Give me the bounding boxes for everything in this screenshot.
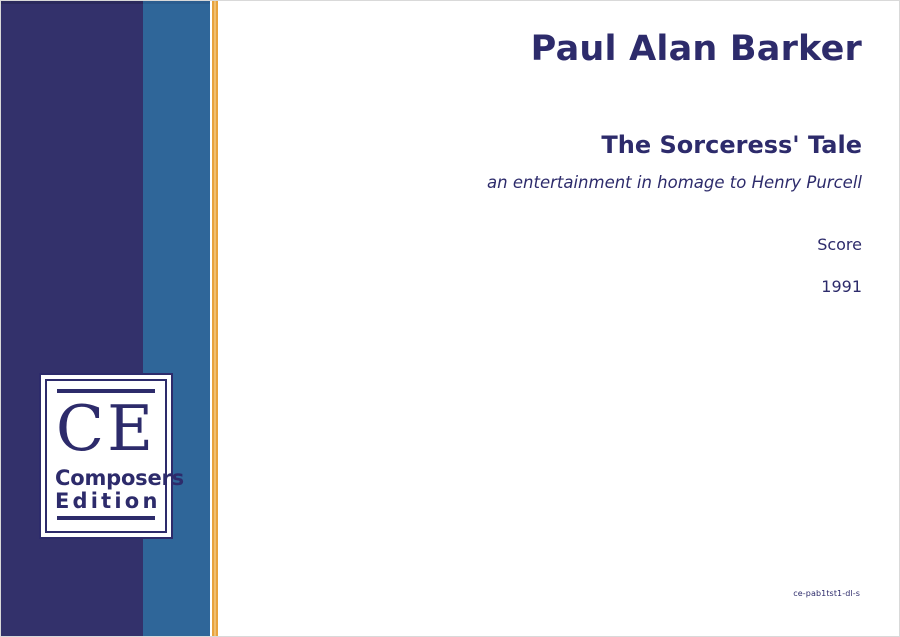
orange-accent-highlight [214, 1, 216, 637]
blue-band-decoration [143, 1, 210, 637]
blue-band-top-edge [143, 1, 210, 4]
composer-name: Paul Alan Barker [421, 30, 862, 69]
composition-year: 1991 [421, 277, 862, 296]
logo-wordmark-line2: Edition [55, 490, 157, 512]
logo-wordmark-line1: Composers [55, 467, 157, 489]
catalogue-code: ce-pab1tst1-dl-s [793, 589, 860, 598]
logo-inner-frame: CE Composers Edition [45, 379, 167, 533]
edition-type-label: Score [421, 235, 862, 254]
navy-band-top-edge [1, 1, 143, 4]
logo-bottom-rule [57, 516, 155, 520]
logo-monogram: CE [55, 397, 157, 465]
composers-edition-logo: CE Composers Edition [39, 373, 173, 539]
navy-band-decoration [1, 1, 143, 637]
score-cover-page: Paul Alan Barker The Sorceress' Tale an … [0, 0, 900, 637]
work-title: The Sorceress' Tale [421, 131, 862, 160]
work-subtitle: an entertainment in homage to Henry Purc… [421, 173, 862, 194]
